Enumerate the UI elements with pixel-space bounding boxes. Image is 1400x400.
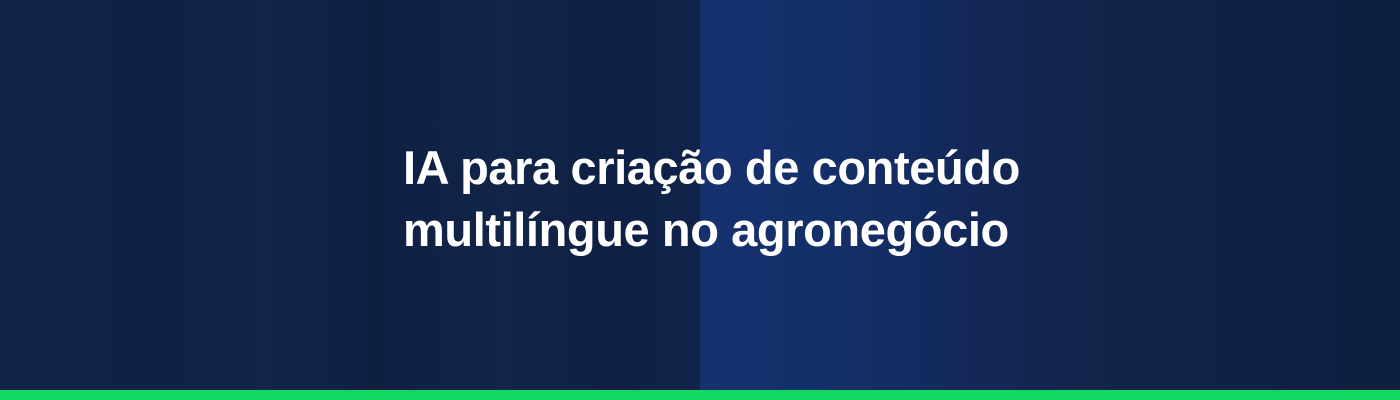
hero-banner: IA para criação de conteúdo multilíngue …: [0, 0, 1400, 400]
headline-block: IA para criação de conteúdo multilíngue …: [403, 137, 1043, 261]
bottom-accent-bar: [0, 390, 1400, 400]
headline-line-1: IA para criação de conteúdo: [403, 137, 1043, 199]
headline-line-2: multilíngue no agronegócio: [403, 199, 1043, 261]
